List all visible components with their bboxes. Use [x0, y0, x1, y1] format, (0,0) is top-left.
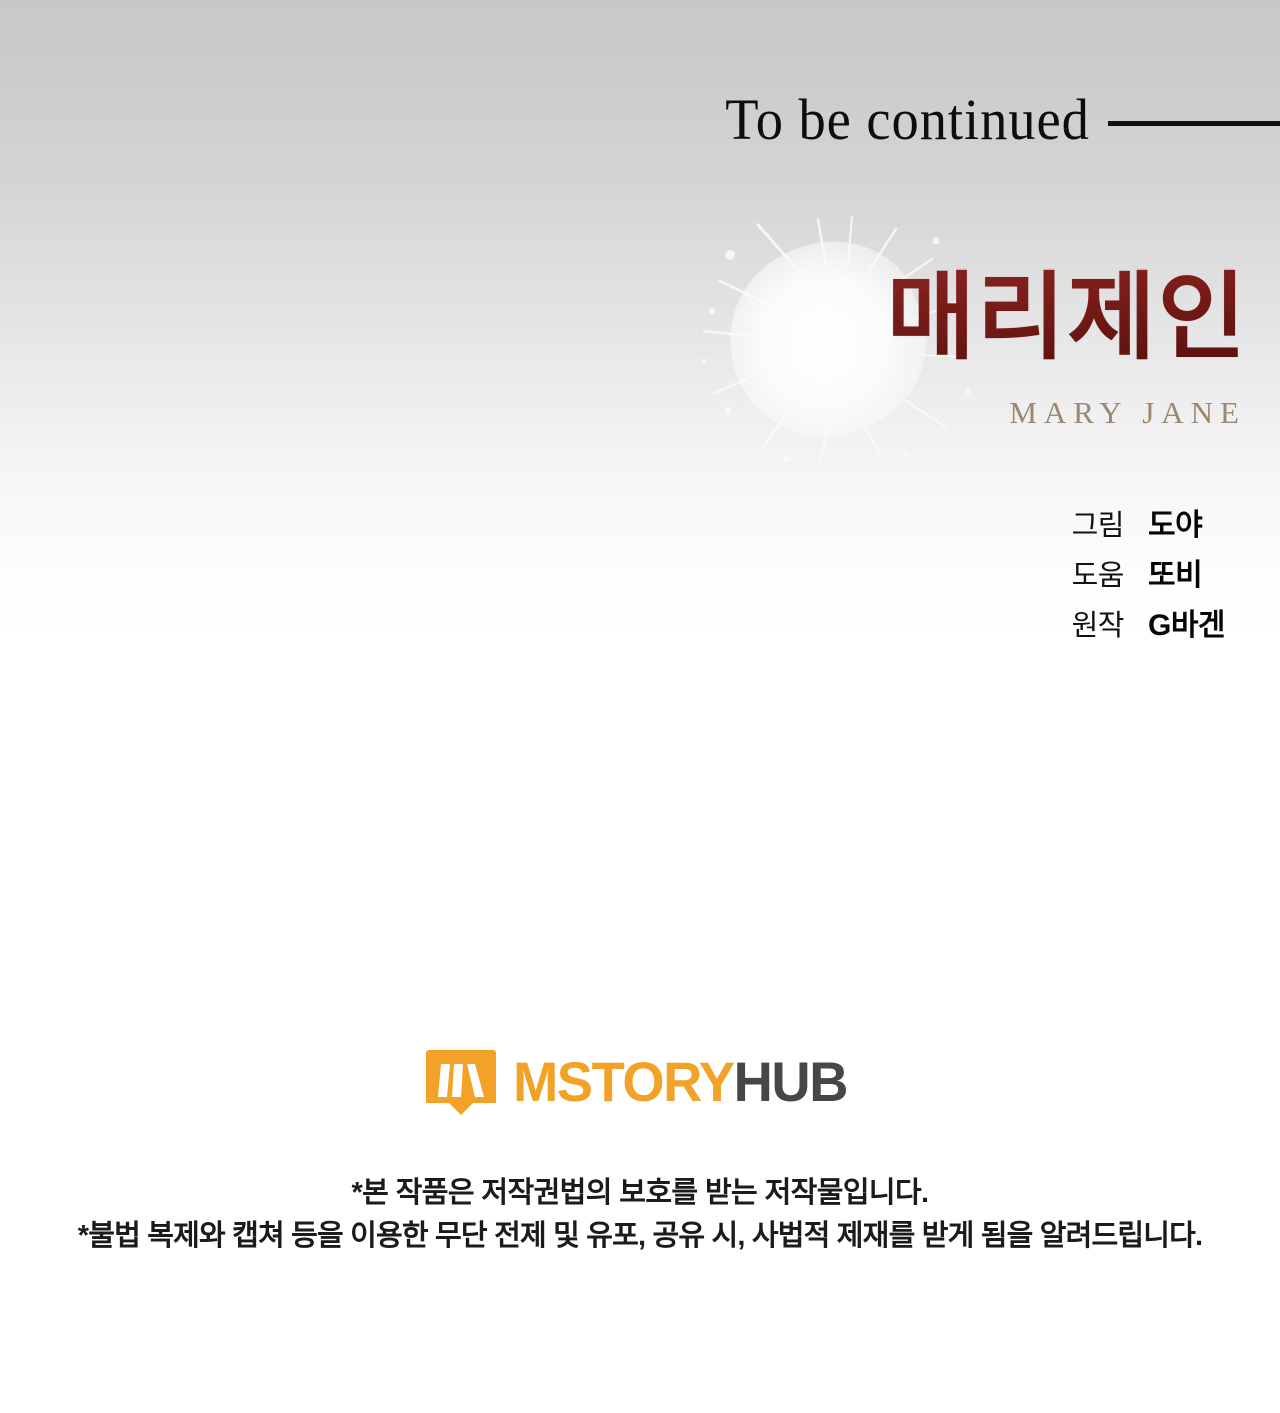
- horizontal-rule-icon: [1108, 121, 1280, 126]
- title-korean: 매리제인: [887, 270, 1248, 366]
- mstoryhub-logo[interactable]: MSTORYHUB: [0, 1044, 1280, 1120]
- brand-word-hub: HUB: [733, 1050, 846, 1113]
- episode-end-page: To be continued: [0, 0, 1280, 1413]
- brand-word-mstory: MSTORY: [513, 1050, 734, 1113]
- mstoryhub-book-icon: [423, 1044, 499, 1120]
- credit-row: 도움 또비: [1072, 550, 1244, 594]
- title-english: MARY JANE: [1009, 397, 1246, 428]
- to-be-continued-row: To be continued: [0, 88, 1280, 158]
- credits-block: 그림 도야 도움 또비 원작 G바겐: [984, 500, 1244, 644]
- credit-name: G바겐: [1148, 600, 1244, 644]
- copyright-notice-line-2: *불법 복제와 캡쳐 등을 이용한 무단 전제 및 유포, 공유 시, 사법적 …: [0, 1214, 1280, 1258]
- credit-role: 그림: [1072, 502, 1124, 544]
- title-lockup: 매리제인 MARY JANE: [700, 215, 1260, 480]
- to-be-continued-text: To be continued: [725, 91, 1090, 155]
- credit-role: 도움: [1072, 552, 1124, 594]
- credit-row: 원작 G바겐: [1072, 600, 1244, 644]
- copyright-notice-line-1: *본 작품은 저작권법의 보호를 받는 저작물입니다.: [0, 1172, 1280, 1214]
- credit-role: 원작: [1072, 602, 1124, 644]
- credit-name: 도야: [1148, 500, 1244, 544]
- mstoryhub-wordmark: MSTORYHUB: [513, 1054, 847, 1110]
- credit-name: 또비: [1148, 550, 1244, 594]
- copyright-notice: *본 작품은 저작권법의 보호를 받는 저작물입니다. *불법 복제와 캡쳐 등…: [0, 1172, 1280, 1258]
- credit-row: 그림 도야: [1072, 500, 1244, 544]
